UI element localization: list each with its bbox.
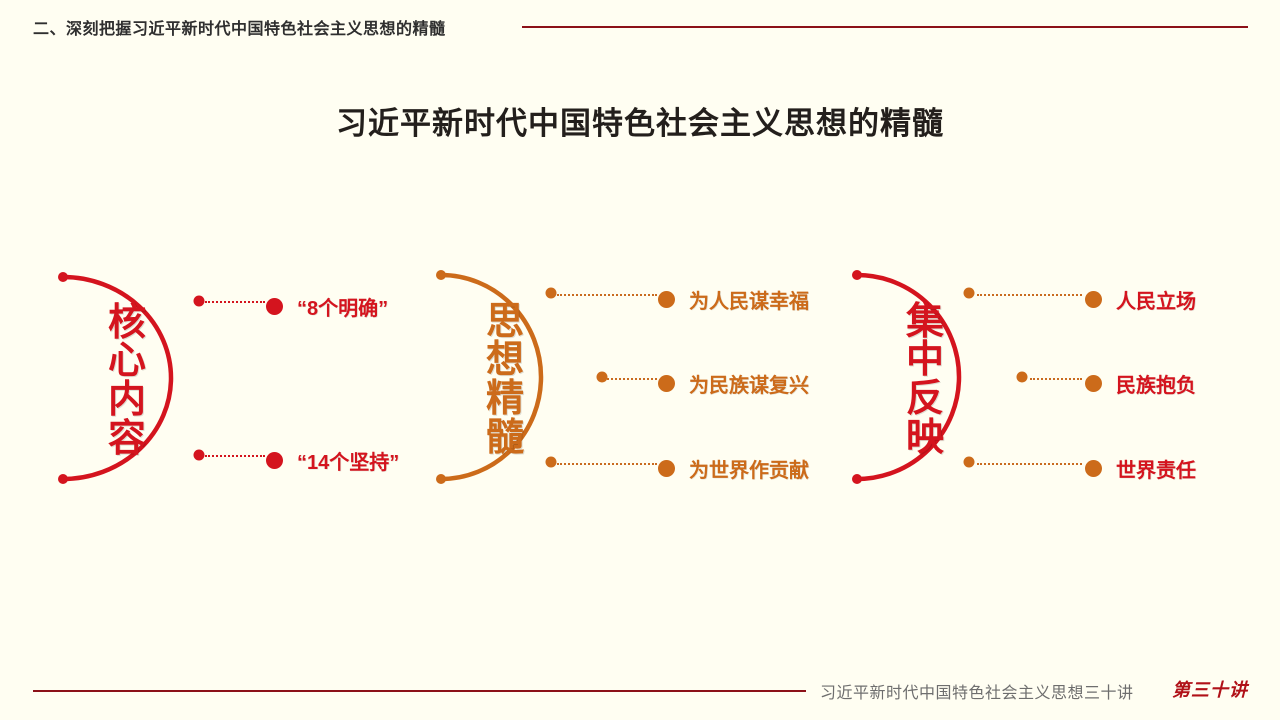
node-dot-icon	[658, 460, 675, 477]
node-essence-1[interactable]: 为人民谋幸福	[658, 285, 809, 314]
center-char: 核	[108, 304, 146, 343]
center-char: 思	[486, 303, 524, 342]
node-label: 民族抱负	[1116, 369, 1196, 398]
footer-divider-line	[33, 690, 806, 692]
node-dot-icon	[266, 298, 283, 315]
concept-diagram: 核 心 内 容 “8个明确” “14个坚持”	[0, 0, 1280, 720]
center-char: 精	[486, 380, 524, 419]
node-label: 世界责任	[1116, 454, 1196, 483]
group-center-label-core-content: 核 心 内 容	[97, 296, 157, 466]
center-char: 想	[486, 341, 524, 380]
node-core-content-2[interactable]: “14个坚持”	[266, 446, 399, 475]
node-reflection-1[interactable]: 人民立场	[1085, 285, 1196, 314]
leader-line	[557, 294, 657, 296]
node-dot-icon	[1085, 291, 1102, 308]
center-char: 集	[906, 303, 944, 342]
node-core-content-1[interactable]: “8个明确”	[266, 292, 388, 321]
node-essence-2[interactable]: 为民族谋复兴	[658, 369, 809, 398]
node-label: 为世界作贡献	[689, 454, 809, 483]
footer-lecture-badge: 第三十讲	[1172, 676, 1248, 702]
leader-line	[977, 463, 1082, 465]
node-label: “8个明确”	[297, 292, 388, 321]
node-dot-icon	[266, 452, 283, 469]
leader-line	[1030, 378, 1082, 380]
footer-series-title: 习近平新时代中国特色社会主义思想三十讲	[820, 679, 1134, 703]
leader-line	[977, 294, 1082, 296]
leader-line	[205, 301, 265, 303]
node-reflection-3[interactable]: 世界责任	[1085, 454, 1196, 483]
node-dot-icon	[658, 291, 675, 308]
node-dot-icon	[658, 375, 675, 392]
node-label: “14个坚持”	[297, 446, 399, 475]
node-label: 为人民谋幸福	[689, 285, 809, 314]
leader-line	[205, 455, 265, 457]
node-label: 为民族谋复兴	[689, 369, 809, 398]
node-dot-icon	[1085, 375, 1102, 392]
center-char: 内	[108, 381, 146, 420]
node-essence-3[interactable]: 为世界作贡献	[658, 454, 809, 483]
center-char: 心	[108, 342, 146, 381]
node-reflection-2[interactable]: 民族抱负	[1085, 369, 1196, 398]
group-center-label-concentrated-reflection: 集 中 反 映	[895, 294, 955, 466]
center-char: 中	[906, 341, 944, 380]
node-label: 人民立场	[1116, 285, 1196, 314]
leader-line	[607, 378, 657, 380]
center-char: 映	[906, 419, 944, 458]
center-char: 髓	[486, 419, 524, 458]
slide: 二、深刻把握习近平新时代中国特色社会主义思想的精髓 习近平新时代中国特色社会主义…	[0, 0, 1280, 720]
center-char: 反	[906, 380, 944, 419]
group-center-label-ideological-essence: 思 想 精 髓	[475, 294, 535, 466]
node-dot-icon	[1085, 460, 1102, 477]
leader-line	[557, 463, 657, 465]
center-char: 容	[108, 420, 146, 459]
